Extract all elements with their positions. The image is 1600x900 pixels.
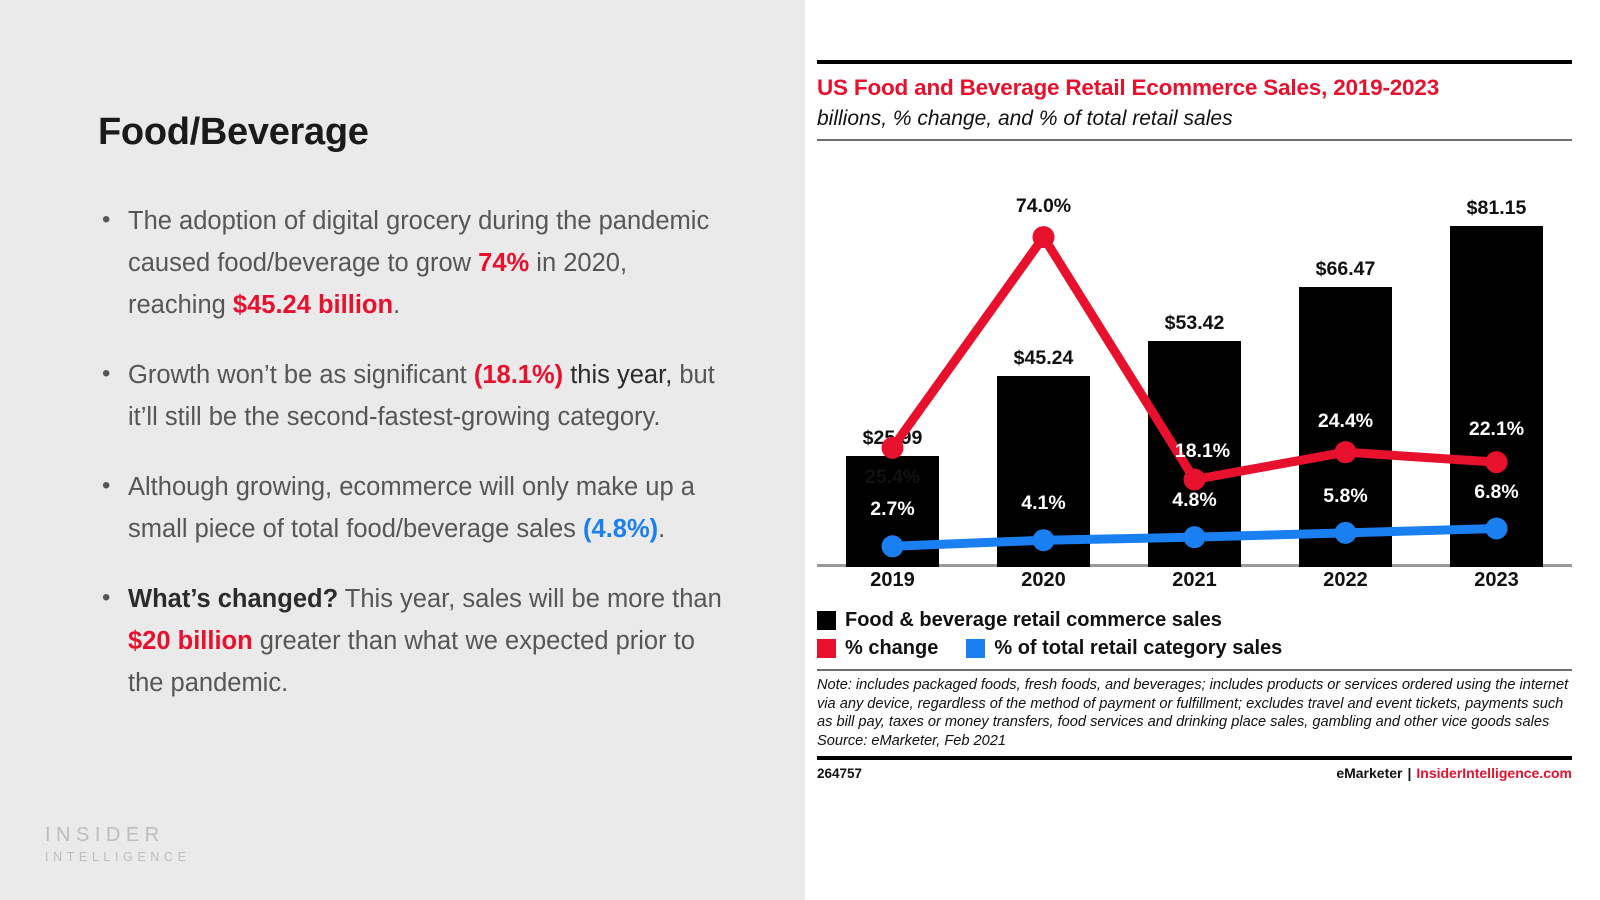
legend-row-lines: % change % of total retail category sale… — [817, 635, 1572, 661]
bullet-4: What’s changed? This year, sales will be… — [98, 578, 723, 704]
rule-under-subtitle — [817, 139, 1572, 141]
x-tick-2020: 2020 — [1021, 569, 1066, 592]
bullet-text-run: $45.24 billion — [233, 291, 393, 319]
chart-plot-area: $25.99$45.24$53.42$66.47$81.1525.4%74.0%… — [817, 147, 1572, 567]
rule-top — [817, 60, 1572, 64]
legend-row-bars: Food & beverage retail commerce sales — [817, 607, 1572, 633]
bullet-text-run: . — [393, 291, 400, 319]
brand-separator: | — [1407, 765, 1411, 781]
chart-note: Note: includes packaged foods, fresh foo… — [817, 676, 1572, 732]
bullet-1: The adoption of digital grocery during t… — [98, 200, 723, 326]
logo-line-intelligence: INTELLIGENCE — [45, 848, 191, 866]
bullet-text-run: (18.1%) — [474, 361, 563, 389]
insider-intelligence-logo: INSIDER INTELLIGENCE — [45, 822, 191, 866]
bullet-text-run: Growth won’t be as significant — [128, 361, 474, 389]
plot-inner: $25.99$45.24$53.42$66.47$81.1525.4%74.0%… — [817, 147, 1572, 567]
slide-root: Food/Beverage The adoption of digital gr… — [0, 0, 1600, 900]
pct-total-label-2023: 6.8% — [1421, 481, 1572, 504]
x-tick-2023: 2023 — [1474, 569, 1519, 592]
pct-change-label-2023: 22.1% — [1421, 418, 1572, 441]
pct-total-label-2021: 4.8% — [1119, 489, 1270, 512]
right-chart-panel: US Food and Beverage Retail Ecommerce Sa… — [805, 0, 1600, 900]
bullet-text-run: 74% — [478, 249, 529, 277]
left-content-panel: Food/Beverage The adoption of digital gr… — [0, 0, 805, 900]
x-tick-2022: 2022 — [1323, 569, 1368, 592]
bullet-text-run: . — [658, 515, 665, 543]
chart-brand: eMarketer|InsiderIntelligence.com — [1336, 765, 1572, 781]
bullet-text-run: This year, sales will be more than — [338, 585, 722, 613]
bullet-2: Growth won’t be as significant (18.1%) t… — [98, 354, 723, 438]
x-axis-tick-labels: 20192020202120222023 — [817, 569, 1572, 603]
legend-label-bar: Food & beverage retail commerce sales — [845, 609, 1222, 632]
legend-label-pct-total: % of total retail category sales — [994, 637, 1282, 660]
bullet-text-run: (4.8%) — [583, 515, 658, 543]
chart-footer: 264757 eMarketer|InsiderIntelligence.com — [817, 765, 1572, 781]
bullet-list: The adoption of digital grocery during t… — [98, 200, 745, 704]
chart-card: US Food and Beverage Retail Ecommerce Sa… — [817, 60, 1572, 822]
legend-swatch-pct-change-icon — [817, 639, 836, 658]
x-tick-2021: 2021 — [1172, 569, 1217, 592]
pct-change-label-2020: 74.0% — [968, 195, 1119, 218]
rule-above-note — [817, 669, 1572, 671]
pct-change-label-2022: 24.4% — [1270, 410, 1421, 433]
legend-swatch-bar-icon — [817, 611, 836, 630]
chart-title: US Food and Beverage Retail Ecommerce Sa… — [817, 75, 1572, 101]
brand-emarketer: eMarketer — [1336, 765, 1402, 781]
legend-label-pct-change: % change — [845, 637, 938, 660]
bullet-text-run: What’s changed? — [128, 585, 338, 613]
page-title: Food/Beverage — [98, 112, 745, 154]
chart-id-number: 264757 — [817, 766, 862, 781]
pct-total-label-2022: 5.8% — [1270, 485, 1421, 508]
rule-bottom — [817, 756, 1572, 760]
brand-website[interactable]: InsiderIntelligence.com — [1416, 765, 1572, 781]
left-inner: Food/Beverage The adoption of digital gr… — [0, 0, 805, 704]
chart-subtitle: billions, % change, and % of total retai… — [817, 106, 1572, 132]
pct-total-label-2020: 4.1% — [968, 492, 1119, 515]
chart-legend: Food & beverage retail commerce sales % … — [817, 607, 1572, 661]
x-tick-2019: 2019 — [870, 569, 915, 592]
legend-swatch-pct-total-icon — [966, 639, 985, 658]
pct-change-label-2021: 18.1% — [1127, 440, 1278, 463]
bullet-text-run: $20 billion — [128, 627, 253, 655]
pct-total-label-2019: 2.7% — [817, 498, 968, 521]
bullet-text-run: this year, — [563, 361, 672, 389]
pct-change-label-2019: 25.4% — [817, 466, 968, 489]
chart-source: Source: eMarketer, Feb 2021 — [817, 732, 1572, 751]
logo-line-insider: INSIDER — [45, 822, 191, 848]
bullet-3: Although growing, ecommerce will only ma… — [98, 466, 723, 550]
